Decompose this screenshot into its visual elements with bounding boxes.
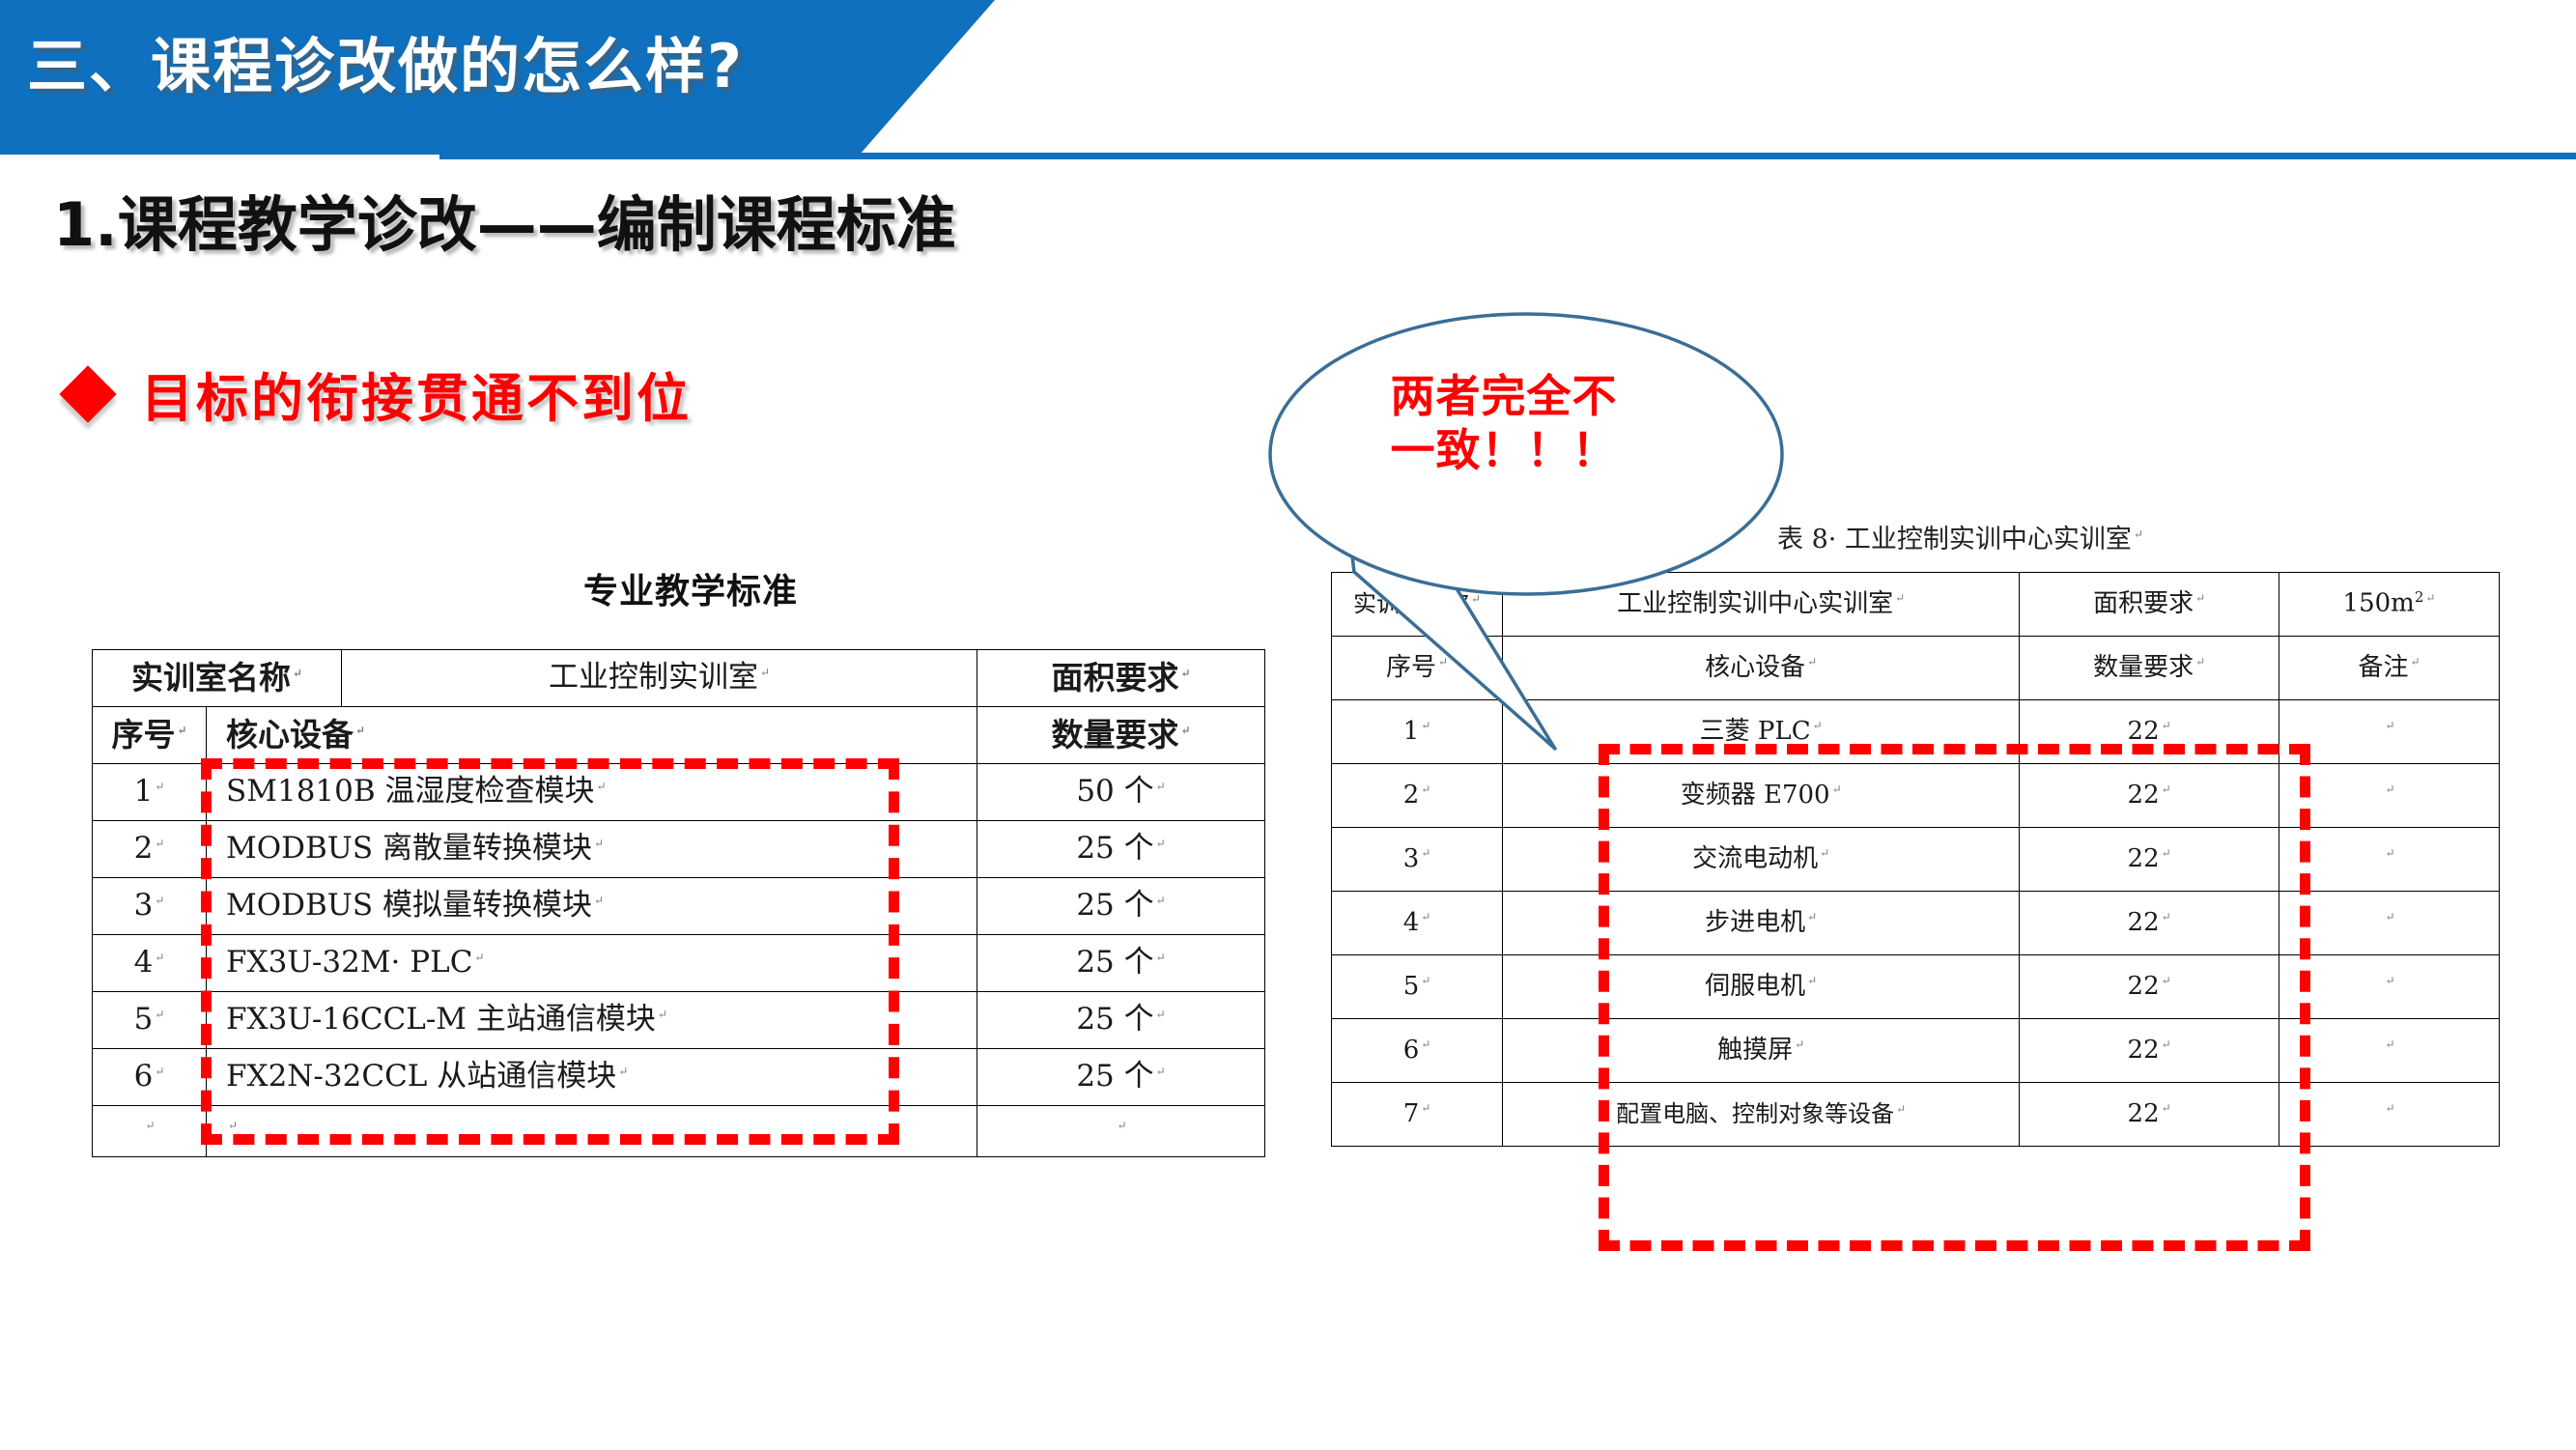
table-row: 3↵ 交流电动机↵ 22↵ ↵ bbox=[1332, 828, 2500, 892]
table-row: 3↵ MODBUS 模拟量转换模块↵ 25 个↵ bbox=[93, 878, 1265, 935]
cell-text: SM1810B 温湿度检查模块 bbox=[226, 774, 595, 809]
cell-text: 面积要求 bbox=[1051, 659, 1178, 697]
diamond-marker-icon bbox=[59, 365, 116, 422]
cell-no: 2↵ bbox=[93, 821, 207, 878]
pilcrow-icon: ↵ bbox=[153, 894, 164, 907]
pilcrow-icon: ↵ bbox=[291, 667, 302, 680]
pilcrow-icon: ↵ bbox=[1154, 1008, 1166, 1021]
cell-text: 数量要求 bbox=[1051, 716, 1178, 753]
table-row: 6↵ 触摸屏↵ 22↵ ↵ bbox=[1332, 1019, 2500, 1083]
cell-text: 4 bbox=[134, 945, 154, 980]
cell-text: FX3U-32M· PLC bbox=[226, 945, 472, 980]
pilcrow-icon: ↵ bbox=[1154, 780, 1166, 793]
col-header-equipment: 核心设备↵ bbox=[207, 707, 977, 764]
cell-equipment: ↵ bbox=[207, 1106, 977, 1157]
pilcrow-icon: ↵ bbox=[2160, 719, 2171, 732]
pilcrow-icon: ↵ bbox=[1154, 894, 1166, 907]
cell-text: 2 bbox=[134, 831, 154, 866]
cell-equipment: 交流电动机↵ bbox=[1503, 828, 2020, 892]
pilcrow-icon: ↵ bbox=[354, 724, 365, 737]
callout-line-2: 一致！！！ bbox=[1345, 423, 1663, 477]
pilcrow-icon: ↵ bbox=[2160, 782, 2171, 796]
table-row: 2↵ MODBUS 离散量转换模块↵ 25 个↵ bbox=[93, 821, 1265, 878]
pilcrow-icon: ↵ bbox=[1793, 1038, 1804, 1051]
cell-qty: 22↵ bbox=[2020, 764, 2279, 828]
cell-text: 备注 bbox=[2358, 653, 2408, 682]
cell-text: 22 bbox=[2128, 908, 2160, 937]
cell-text: FX2N-32CCL 从站通信模块 bbox=[226, 1059, 616, 1094]
cell-equipment: MODBUS 模拟量转换模块↵ bbox=[207, 878, 977, 935]
cell-qty: 25 个↵ bbox=[977, 1049, 1265, 1106]
pilcrow-icon: ↵ bbox=[1805, 974, 1817, 987]
cell-room-name: 工业控制实训室↵ bbox=[342, 650, 977, 707]
pilcrow-icon: ↵ bbox=[2132, 527, 2143, 541]
cell-no: ↵ bbox=[93, 1106, 207, 1157]
col-header-no: 序号↵ bbox=[93, 707, 207, 764]
cell-text: MODBUS 离散量转换模块 bbox=[226, 831, 592, 866]
pilcrow-icon: ↵ bbox=[2194, 591, 2205, 605]
pilcrow-icon: ↵ bbox=[1893, 591, 1905, 605]
cell-qty: 22↵ bbox=[2020, 1083, 2279, 1147]
cell-text: 5 bbox=[134, 1002, 154, 1037]
cell-text: 22 bbox=[2128, 1099, 2160, 1128]
cell-text: 25 个 bbox=[1076, 888, 1153, 923]
cell-text: 3 bbox=[1403, 844, 1420, 873]
cell-text: 实训室名称 bbox=[131, 659, 291, 697]
pilcrow-icon: ↵ bbox=[2383, 719, 2394, 732]
pilcrow-icon: ↵ bbox=[2383, 910, 2394, 924]
cell-note: ↵ bbox=[2279, 955, 2499, 1019]
callout-line-1: 两者完全不 bbox=[1345, 369, 1663, 423]
table-row: 6↵ FX2N-32CCL 从站通信模块↵ 25 个↵ bbox=[93, 1049, 1265, 1106]
cell-no: 3↵ bbox=[93, 878, 207, 935]
pilcrow-icon: ↵ bbox=[153, 837, 164, 850]
pilcrow-icon: ↵ bbox=[1894, 1102, 1906, 1116]
cell-no: 1↵ bbox=[93, 764, 207, 821]
pilcrow-icon: ↵ bbox=[1419, 974, 1430, 987]
area-superscript: 2 bbox=[2415, 588, 2424, 606]
cell-no: 2↵ bbox=[1332, 764, 1503, 828]
cell-text: MODBUS 模拟量转换模块 bbox=[226, 888, 592, 923]
table-row: 4↵ FX3U-32M· PLC↵ 25 个↵ bbox=[93, 935, 1265, 992]
pilcrow-icon: ↵ bbox=[1818, 846, 1829, 860]
cell-note: ↵ bbox=[2279, 1083, 2499, 1147]
cell-text: 25 个 bbox=[1076, 945, 1153, 980]
pilcrow-icon: ↵ bbox=[2423, 591, 2435, 605]
pilcrow-icon: ↵ bbox=[1419, 1038, 1430, 1051]
table-row: 7↵ 配置电脑、控制对象等设备↵ 22↵ ↵ bbox=[1332, 1083, 2500, 1147]
table-row: 1↵ SM1810B 温湿度检查模块↵ 50 个↵ bbox=[93, 764, 1265, 821]
cell-text: 7 bbox=[1403, 1099, 1420, 1128]
cell-text: 25 个 bbox=[1076, 1002, 1153, 1037]
cell-qty: 22↵ bbox=[2020, 955, 2279, 1019]
cell-area-label: 面积要求↵ bbox=[2020, 573, 2279, 637]
pilcrow-icon: ↵ bbox=[1419, 1101, 1430, 1115]
left-standard-table: 实训室名称↵ 工业控制实训室↵ 面积要求↵ 序号↵ 核心设备↵ 数量要求↵ 1↵… bbox=[92, 649, 1265, 1157]
cell-text: 5 bbox=[1403, 972, 1420, 1001]
table-row: 实训室名称↵ 工业控制实训室↵ 面积要求↵ bbox=[93, 650, 1265, 707]
cell-equipment: FX3U-16CCL-M 主站通信模块↵ bbox=[207, 992, 977, 1049]
cell-text: 22 bbox=[2128, 844, 2160, 873]
pilcrow-icon: ↵ bbox=[758, 666, 770, 679]
cell-text: 50 个 bbox=[1076, 774, 1153, 809]
cell-text: 变频器 E700 bbox=[1681, 781, 1830, 810]
cell-no: 5↵ bbox=[1332, 955, 1503, 1019]
cell-equipment: 步进电机↵ bbox=[1503, 892, 2020, 955]
pilcrow-icon: ↵ bbox=[595, 780, 607, 793]
cell-qty: 22↵ bbox=[2020, 828, 2279, 892]
left-panel-caption: 专业教学标准 bbox=[583, 563, 798, 613]
cell-text: 22 bbox=[2128, 1036, 2160, 1065]
cell-text: 伺服电机 bbox=[1705, 972, 1805, 1001]
cell-text: 数量要求 bbox=[2093, 653, 2194, 682]
cell-text: 22 bbox=[2128, 972, 2160, 1001]
cell-equipment: 配置电脑、控制对象等设备↵ bbox=[1503, 1083, 2020, 1147]
table-row: 5↵ FX3U-16CCL-M 主站通信模块↵ 25 个↵ bbox=[93, 992, 1265, 1049]
pilcrow-icon: ↵ bbox=[2160, 974, 2171, 987]
cell-note: ↵ bbox=[2279, 828, 2499, 892]
cell-qty: 22↵ bbox=[2020, 1019, 2279, 1083]
cell-qty: 22↵ bbox=[2020, 892, 2279, 955]
cell-text: 2 bbox=[1403, 781, 1420, 810]
cell-no: 6↵ bbox=[93, 1049, 207, 1106]
cell-qty: 25 个↵ bbox=[977, 878, 1265, 935]
cell-text: 150m bbox=[2343, 589, 2415, 618]
pilcrow-icon: ↵ bbox=[472, 951, 484, 964]
cell-equipment: SM1810B 温湿度检查模块↵ bbox=[207, 764, 977, 821]
pilcrow-icon: ↵ bbox=[1178, 724, 1190, 737]
cell-equipment: 变频器 E700↵ bbox=[1503, 764, 2020, 828]
table-row: 4↵ 步进电机↵ 22↵ ↵ bbox=[1332, 892, 2500, 955]
table-row: 2↵ 变频器 E700↵ 22↵ ↵ bbox=[1332, 764, 2500, 828]
pilcrow-icon: ↵ bbox=[592, 837, 604, 850]
cell-equipment: 伺服电机↵ bbox=[1503, 955, 2020, 1019]
cell-equipment: FX3U-32M· PLC↵ bbox=[207, 935, 977, 992]
cell-qty: 50 个↵ bbox=[977, 764, 1265, 821]
pilcrow-icon: ↵ bbox=[592, 894, 604, 907]
pilcrow-icon: ↵ bbox=[1805, 910, 1817, 924]
pilcrow-icon: ↵ bbox=[2160, 1101, 2171, 1115]
cell-area-value: 150m2↵ bbox=[2279, 573, 2499, 637]
pilcrow-icon: ↵ bbox=[1830, 782, 1842, 796]
cell-text: 22 bbox=[2128, 717, 2160, 746]
pilcrow-icon: ↵ bbox=[656, 1008, 667, 1021]
pilcrow-icon: ↵ bbox=[1115, 1119, 1126, 1132]
pilcrow-icon: ↵ bbox=[1419, 782, 1430, 796]
pilcrow-icon: ↵ bbox=[1178, 667, 1190, 680]
cell-qty: 25 个↵ bbox=[977, 821, 1265, 878]
cell-no: 6↵ bbox=[1332, 1019, 1503, 1083]
cell-text: 6 bbox=[1403, 1036, 1420, 1065]
cell-qty: 25 个↵ bbox=[977, 935, 1265, 992]
pilcrow-icon: ↵ bbox=[2383, 974, 2394, 987]
cell-equipment: MODBUS 离散量转换模块↵ bbox=[207, 821, 977, 878]
cell-note: ↵ bbox=[2279, 700, 2499, 764]
pilcrow-icon: ↵ bbox=[153, 1008, 164, 1021]
pilcrow-icon: ↵ bbox=[1154, 951, 1166, 964]
pilcrow-icon: ↵ bbox=[153, 780, 164, 793]
cell-no: 4↵ bbox=[1332, 892, 1503, 955]
cell-equipment: 触摸屏↵ bbox=[1503, 1019, 2020, 1083]
pilcrow-icon: ↵ bbox=[2408, 655, 2420, 668]
pilcrow-icon: ↵ bbox=[153, 1065, 164, 1078]
cell-text: 配置电脑、控制对象等设备 bbox=[1616, 1100, 1894, 1127]
cell-room-label: 实训室名称↵ bbox=[93, 650, 342, 707]
section-subtitle: 1.课程教学诊改——编制课程标准 bbox=[53, 176, 956, 263]
cell-no: 7↵ bbox=[1332, 1083, 1503, 1147]
pilcrow-icon: ↵ bbox=[1154, 1065, 1166, 1078]
page-title: 三、课程诊改做的怎么样? bbox=[27, 17, 744, 104]
header-underline-rule bbox=[439, 153, 2576, 159]
cell-text: 核心设备 bbox=[226, 716, 354, 753]
cell-text: 面积要求 bbox=[2093, 589, 2194, 618]
pilcrow-icon: ↵ bbox=[2383, 846, 2394, 860]
pilcrow-icon: ↵ bbox=[226, 1119, 238, 1132]
table-header-row: 序号↵ 核心设备↵ 数量要求↵ bbox=[93, 707, 1265, 764]
cell-note: ↵ bbox=[2279, 764, 2499, 828]
cell-text: 工业控制实训室 bbox=[549, 660, 758, 695]
pilcrow-icon: ↵ bbox=[143, 1119, 155, 1132]
pilcrow-icon: ↵ bbox=[2383, 1101, 2394, 1115]
cell-text: 25 个 bbox=[1076, 1059, 1153, 1094]
cell-text: 交流电动机 bbox=[1692, 844, 1818, 873]
callout-bubble: 两者完全不 一致！！！ bbox=[1207, 309, 1864, 753]
cell-qty: ↵ bbox=[977, 1106, 1265, 1157]
cell-text: 序号 bbox=[111, 716, 175, 753]
cell-text: FX3U-16CCL-M 主站通信模块 bbox=[226, 1002, 656, 1037]
pilcrow-icon: ↵ bbox=[2194, 655, 2205, 668]
pilcrow-icon: ↵ bbox=[2383, 1038, 2394, 1051]
pilcrow-icon: ↵ bbox=[1419, 846, 1430, 860]
pilcrow-icon: ↵ bbox=[153, 951, 164, 964]
callout-text: 两者完全不 一致！！！ bbox=[1345, 369, 1663, 477]
cell-note: ↵ bbox=[2279, 1019, 2499, 1083]
cell-text: 6 bbox=[134, 1059, 154, 1094]
pilcrow-icon: ↵ bbox=[2383, 782, 2394, 796]
cell-text: 触摸屏 bbox=[1717, 1036, 1793, 1065]
pilcrow-icon: ↵ bbox=[616, 1065, 628, 1078]
cell-text: 3 bbox=[134, 888, 154, 923]
col-header-note: 备注↵ bbox=[2279, 637, 2499, 700]
cell-no: 4↵ bbox=[93, 935, 207, 992]
cell-no: 5↵ bbox=[93, 992, 207, 1049]
cell-qty: 25 个↵ bbox=[977, 992, 1265, 1049]
pilcrow-icon: ↵ bbox=[175, 724, 186, 737]
bullet-row: 目标的衔接贯通不到位 bbox=[68, 355, 692, 432]
cell-note: ↵ bbox=[2279, 892, 2499, 955]
cell-equipment: FX2N-32CCL 从站通信模块↵ bbox=[207, 1049, 977, 1106]
pilcrow-icon: ↵ bbox=[1419, 910, 1430, 924]
table-row-empty: ↵ ↵ ↵ bbox=[93, 1106, 1265, 1157]
cell-text: 22 bbox=[2128, 781, 2160, 810]
pilcrow-icon: ↵ bbox=[2160, 1038, 2171, 1051]
cell-qty: 22↵ bbox=[2020, 700, 2279, 764]
col-header-qty: 数量要求↵ bbox=[2020, 637, 2279, 700]
cell-text: 步进电机 bbox=[1705, 908, 1805, 937]
pilcrow-icon: ↵ bbox=[2160, 846, 2171, 860]
table-row: 5↵ 伺服电机↵ 22↵ ↵ bbox=[1332, 955, 2500, 1019]
bullet-label: 目标的衔接贯通不到位 bbox=[141, 355, 692, 432]
pilcrow-icon: ↵ bbox=[2160, 910, 2171, 924]
cell-text: 4 bbox=[1403, 908, 1420, 937]
cell-text: 25 个 bbox=[1076, 831, 1153, 866]
cell-text: 1 bbox=[134, 774, 154, 809]
pilcrow-icon: ↵ bbox=[1154, 837, 1166, 850]
cell-no: 3↵ bbox=[1332, 828, 1503, 892]
